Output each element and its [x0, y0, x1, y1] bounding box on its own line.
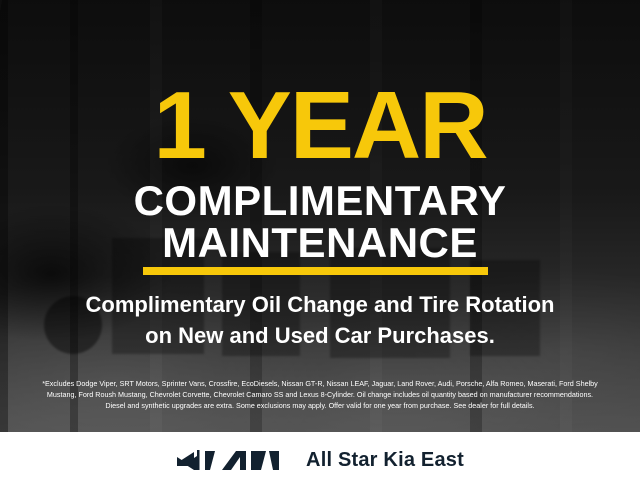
- offer-description-line-2: on New and Used Car Purchases.: [0, 325, 640, 347]
- disclaimer-line-2: Mustang, Ford Roush Mustang, Chevrolet C…: [14, 389, 626, 400]
- kia-logo: [176, 447, 280, 473]
- offer-description-line-1: Complimentary Oil Change and Tire Rotati…: [0, 294, 640, 316]
- headline-year: 1 YEAR: [0, 78, 640, 174]
- disclaimer-line-1: *Excludes Dodge Viper, SRT Motors, Sprin…: [14, 378, 626, 389]
- banner-content: 1 YEAR COMPLIMENTARY MAINTENANCE Complim…: [0, 0, 640, 488]
- yellow-divider-bar: [143, 267, 488, 275]
- disclaimer-line-3: Diesel and synthetic upgrades are extra.…: [14, 400, 626, 411]
- promotional-banner: 1 YEAR COMPLIMENTARY MAINTENANCE Complim…: [0, 0, 640, 488]
- dealer-name: All Star Kia East: [306, 449, 464, 472]
- footer-bar: All Star Kia East: [0, 432, 640, 488]
- disclaimer-text: *Excludes Dodge Viper, SRT Motors, Sprin…: [14, 378, 626, 411]
- headline-complimentary: COMPLIMENTARY: [0, 180, 640, 222]
- headline-maintenance: MAINTENANCE: [0, 222, 640, 264]
